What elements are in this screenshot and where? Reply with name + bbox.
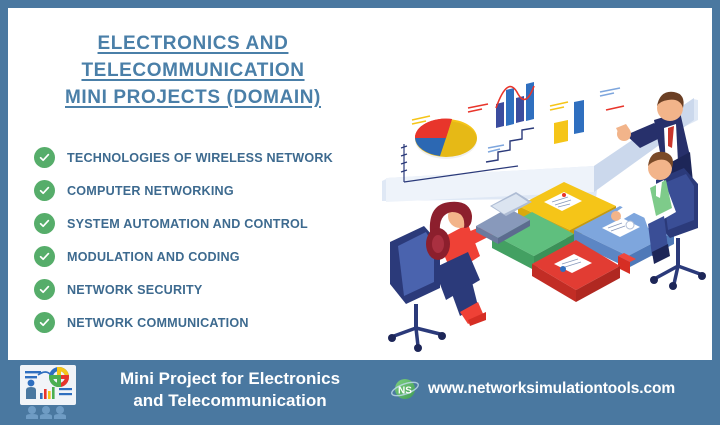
list-item-label: MODULATION AND CODING — [67, 250, 240, 264]
list-item-label: TECHNOLOGIES OF WIRELESS NETWORK — [67, 151, 333, 165]
list-item: SYSTEM AUTOMATION AND CONTROL — [34, 207, 374, 240]
list-item: COMPUTER NETWORKING — [34, 174, 374, 207]
footer-title: Mini Project for Electronics and Telecom… — [90, 368, 370, 412]
domain-list: TECHNOLOGIES OF WIRELESS NETWORK COMPUTE… — [34, 141, 374, 339]
poster-canvas: ELECTRONICS AND TELECOMMUNICATION MINI P… — [8, 8, 712, 360]
woman-with-laptop — [388, 192, 532, 352]
ns-badge-text: NS — [398, 386, 412, 397]
list-item-label: NETWORK COMMUNICATION — [67, 316, 249, 330]
list-item-label: NETWORK SECURITY — [67, 283, 202, 297]
footer-title-line-2: and Telecommunication — [90, 390, 370, 412]
title-line-3: MINI PROJECTS (DOMAIN) — [28, 84, 358, 111]
check-circle-icon — [34, 180, 55, 201]
title-line-1: ELECTRONICS AND — [28, 30, 358, 57]
list-item: MODULATION AND CODING — [34, 240, 374, 273]
pie-chart — [415, 119, 477, 159]
page-title: ELECTRONICS AND TELECOMMUNICATION MINI P… — [28, 30, 358, 111]
check-circle-icon — [34, 279, 55, 300]
ns-globe-icon: NS — [390, 376, 420, 402]
check-circle-icon — [34, 312, 55, 333]
title-line-2: TELECOMMUNICATION — [28, 57, 358, 84]
infographic-poster: ELECTRONICS AND TELECOMMUNICATION MINI P… — [0, 0, 720, 425]
footer-title-line-1: Mini Project for Electronics — [90, 368, 370, 390]
list-item: NETWORK SECURITY — [34, 273, 374, 306]
presentation-board-logo — [18, 363, 78, 419]
list-item: TECHNOLOGIES OF WIRELESS NETWORK — [34, 141, 374, 174]
check-circle-icon — [34, 246, 55, 267]
website-url[interactable]: www.networksimulationtools.com — [428, 380, 675, 398]
list-item-label: SYSTEM AUTOMATION AND CONTROL — [67, 217, 308, 231]
check-circle-icon — [34, 213, 55, 234]
footer-brand: NS www.networksimulationtools.com — [390, 376, 675, 402]
isometric-team-meeting-illustration — [368, 16, 712, 360]
footer-bar: Mini Project for Electronics and Telecom… — [0, 360, 720, 425]
check-circle-icon — [34, 147, 55, 168]
list-item-label: COMPUTER NETWORKING — [67, 184, 234, 198]
list-item: NETWORK COMMUNICATION — [34, 306, 374, 339]
